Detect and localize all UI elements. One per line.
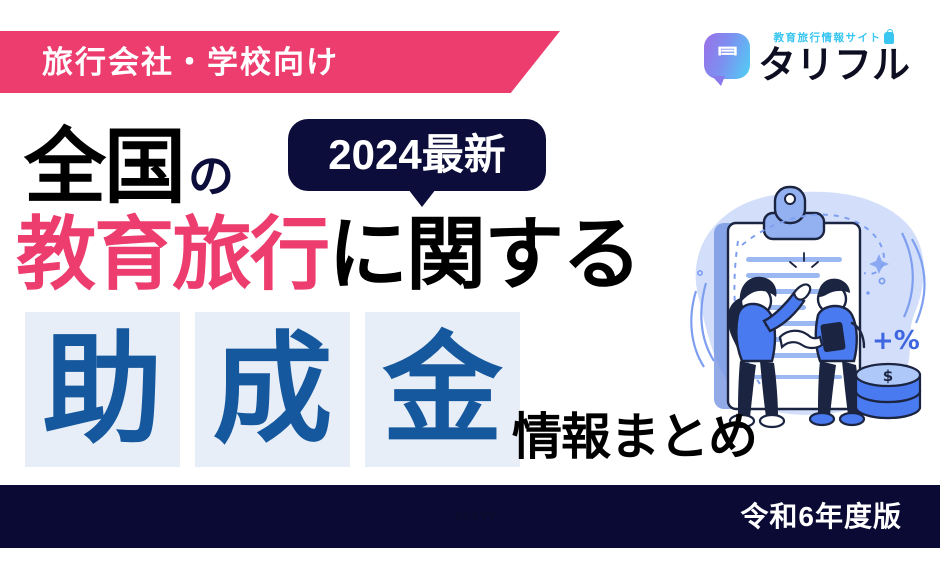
kanji-box: 助 <box>25 312 180 467</box>
headline-particle-no: の <box>188 153 234 199</box>
logo-mark-glyph: ⺜ <box>704 33 750 79</box>
headline-nikansuru: に関する <box>328 215 640 295</box>
logo-tagline-text: 教育旅行情報サイト <box>773 33 881 44</box>
coin-dollar-label: $ <box>883 367 893 385</box>
kanji-char: 金 <box>383 330 503 450</box>
headline-line-2: 教育旅行 に関する <box>16 215 640 295</box>
logo-tagline: 教育旅行情報サイト <box>773 32 894 44</box>
site-logo[interactable]: ⺜ 教育旅行情報サイト タリフル <box>704 32 910 85</box>
year-badge-label: 2024最新 <box>328 134 505 176</box>
handshake-grant-illustration: $ +% <box>676 175 940 440</box>
year-badge: 2024最新 <box>288 119 546 191</box>
logo-text-group: 教育旅行情報サイト タリフル <box>758 32 910 85</box>
kanji-box: 金 <box>365 312 520 467</box>
kanji-box: 成 <box>195 312 350 467</box>
promo-banner: 旅行会社・学校向け ⺜ 教育旅行情報サイト タリフル 全国 の 2024最新 教… <box>0 0 940 564</box>
headline-zenkoku: 全国 <box>24 130 184 205</box>
bag-icon <box>884 32 894 44</box>
logo-bubble-icon: ⺜ <box>704 33 750 79</box>
audience-ribbon-label: 旅行会社・学校向け <box>42 47 339 78</box>
kanji-char: 助 <box>43 330 163 450</box>
audience-ribbon: 旅行会社・学校向け <box>0 31 560 93</box>
percent-label: +% <box>872 326 920 356</box>
year-badge-tail <box>408 189 436 207</box>
footer-version-label: 令和6年度版 <box>740 503 902 531</box>
footer-watermark: 9YYYY <box>455 510 497 523</box>
summary-suffix-label: 情報まとめ <box>512 412 757 462</box>
kanji-char: 成 <box>213 330 333 450</box>
logo-wordmark: タリフル <box>758 47 910 85</box>
headline-kyouiku-ryokou: 教育旅行 <box>16 215 328 295</box>
footer-bar: 9YYYY 令和6年度版 <box>0 485 940 548</box>
headline-line-1: 全国 の <box>24 113 234 205</box>
grant-kanji-row: 助 成 金 <box>25 312 520 467</box>
